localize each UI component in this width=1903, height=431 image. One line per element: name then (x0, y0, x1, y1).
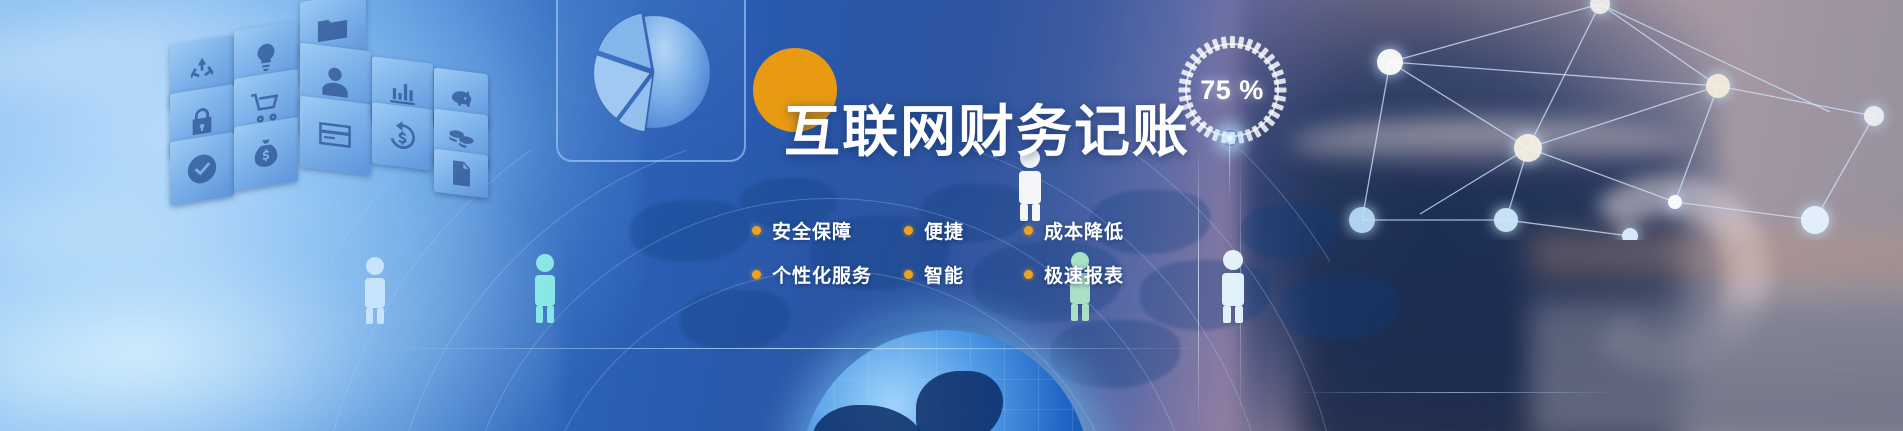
bullet-dot-icon (752, 226, 761, 235)
gauge-value: 75 % (1178, 36, 1286, 144)
cube-face-credit-card (300, 96, 371, 175)
document-icon (447, 157, 476, 190)
bullet-dot-icon (904, 226, 913, 235)
person-icon (358, 255, 392, 325)
gauge-highlight-dot (1222, 130, 1238, 146)
feature-label: 成本降低 (1044, 217, 1124, 244)
network-edges (1362, 4, 1874, 236)
person-glyph (358, 255, 392, 325)
horizontal-guide-line (1290, 392, 1620, 393)
feature-label: 个性化服务 (772, 261, 872, 288)
vertical-guide-line (1240, 150, 1241, 430)
feature-label: 极速报表 (1044, 261, 1124, 288)
bar-chart-icon (386, 72, 419, 109)
feature-label: 便捷 (924, 217, 964, 244)
feature-label: 安全保障 (772, 217, 852, 244)
person-icon (1215, 248, 1251, 324)
pie-chart-svg (590, 8, 718, 136)
dollar-refresh-icon (386, 118, 419, 155)
money-bag-icon (249, 135, 283, 174)
feature-item-2: 便捷 (904, 208, 1024, 252)
bullet-dot-icon (1024, 270, 1033, 279)
pie-slice (644, 16, 710, 129)
person-glyph (1215, 248, 1251, 324)
feature-item-6: 极速报表 (1024, 252, 1124, 296)
cube-face-dollar-refresh (372, 102, 433, 170)
bullet-dot-icon (1024, 226, 1033, 235)
person-glyph (528, 252, 562, 324)
network-graph-svg (1270, 0, 1903, 240)
check-circle-icon (185, 149, 219, 188)
pie-chart (590, 8, 718, 136)
bullet-dot-icon (904, 270, 913, 279)
network-nodes (1349, 0, 1884, 240)
feature-list: 安全保障便捷成本降低个性化服务智能极速报表 (752, 208, 1124, 296)
credit-card-icon (316, 114, 354, 157)
vertical-guide-line (1198, 140, 1199, 430)
business-icon-cube (170, 0, 500, 250)
feature-item-3: 成本降低 (1024, 208, 1124, 252)
folder-icon (315, 10, 350, 51)
gauge-stem (1229, 140, 1230, 200)
page-title: 互联网财务记账 (784, 104, 1190, 160)
table-surface-band (1530, 300, 1903, 431)
banner-root: 75 % 互联网财务记账 安全保障便捷成本降低个性化服务智能极速报表 (0, 0, 1903, 431)
horizontal-guide-line (360, 348, 1220, 349)
table-surface-band (1530, 236, 1903, 290)
feature-item-1: 安全保障 (752, 208, 904, 252)
cube-face-document (434, 149, 488, 198)
feature-item-4: 个性化服务 (752, 252, 904, 296)
network-graph (1270, 0, 1903, 240)
user-icon (316, 61, 354, 104)
cube-face-money-bag (234, 117, 298, 191)
feature-label: 智能 (924, 261, 964, 288)
bullet-dot-icon (752, 270, 761, 279)
progress-gauge-75: 75 % (1178, 36, 1286, 144)
feature-item-5: 智能 (904, 252, 1024, 296)
person-icon (528, 252, 562, 324)
cube-face-check-circle (170, 132, 234, 206)
